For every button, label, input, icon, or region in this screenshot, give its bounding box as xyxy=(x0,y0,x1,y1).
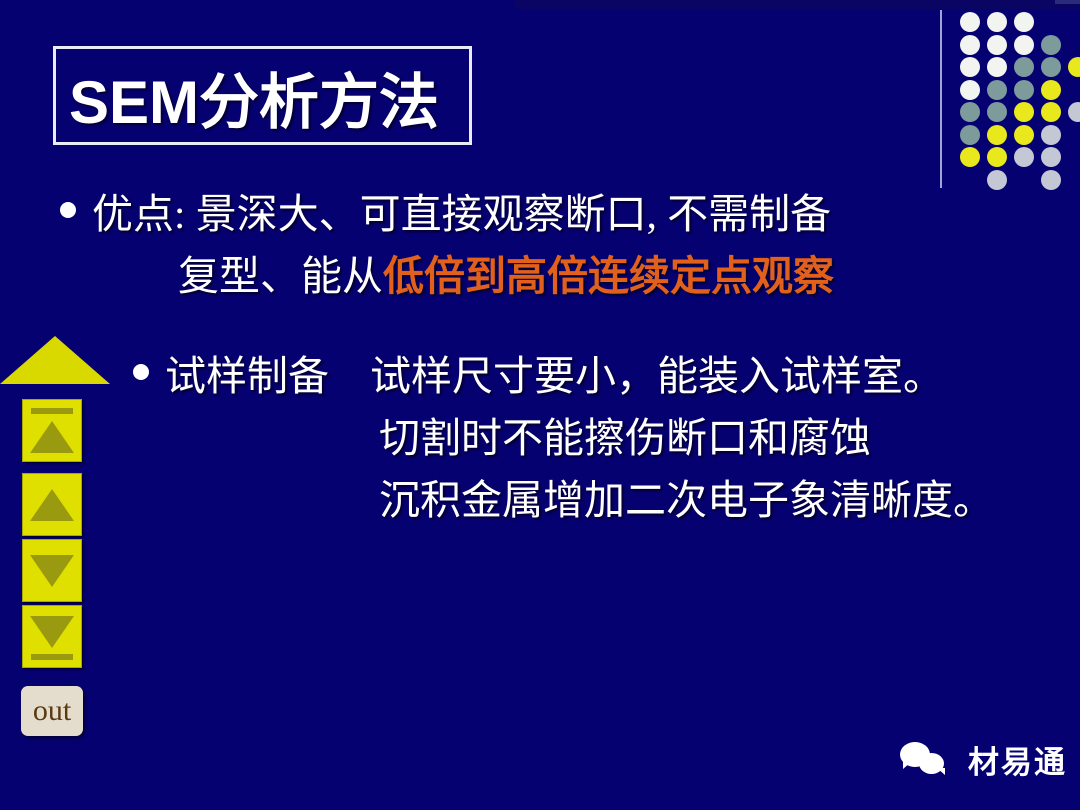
body-text: 切割时不能擦伤断口和腐蚀 xyxy=(379,407,871,469)
grid-dot-white xyxy=(960,35,980,55)
grid-dot-yellow xyxy=(1041,102,1061,122)
grid-dot-yellow xyxy=(987,125,1007,145)
grid-dot-yellow xyxy=(1014,102,1034,122)
bullet-line: 复型、能从低倍到高倍连续定点观察 xyxy=(60,245,834,307)
presentation-slide: SEM分析方法 优点: 景深大、可直接观察断口, 不需制备复型、能从低倍到高倍连… xyxy=(0,0,1080,810)
bar-icon xyxy=(31,408,73,414)
grid-dot-gray xyxy=(987,170,1007,190)
watermark-label: 材易通 xyxy=(968,737,1067,782)
bullet-line: 试样制备 试样尺寸要小，能装入试样室。 xyxy=(133,345,994,407)
vertical-rule-decoration xyxy=(940,10,942,188)
grid-dot-teal xyxy=(960,125,980,145)
grid-dot-white xyxy=(987,35,1007,55)
triangle-down-icon xyxy=(30,555,74,587)
grid-dot-yellow xyxy=(1014,125,1034,145)
bar-icon xyxy=(31,654,73,660)
grid-dot-gray xyxy=(1041,147,1061,167)
top-band-decoration xyxy=(515,0,1080,9)
grid-dot-teal xyxy=(1041,35,1061,55)
grid-dot-gray xyxy=(1014,147,1034,167)
bullet-group-advantages: 优点: 景深大、可直接观察断口, 不需制备复型、能从低倍到高倍连续定点观察 xyxy=(60,183,834,307)
bullet-line: 切割时不能擦伤断口和腐蚀 xyxy=(133,407,994,469)
bullet-line: 沉积金属增加二次电子象清晰度。 xyxy=(133,469,994,531)
grid-dot-gray xyxy=(1041,125,1061,145)
body-text: 沉积金属增加二次电子象清晰度。 xyxy=(379,469,994,531)
body-text: 复型、能从 xyxy=(178,245,383,307)
triangle-up-icon xyxy=(30,421,74,453)
grid-dot-white xyxy=(987,57,1007,77)
grid-dot-white xyxy=(960,12,980,32)
bullet-marker-icon xyxy=(133,364,149,380)
bullet-line: 优点: 景深大、可直接观察断口, 不需制备 xyxy=(60,183,834,245)
body-text: 优点: 景深大、可直接观察断口, 不需制备 xyxy=(92,183,831,245)
grid-dot-teal xyxy=(1041,57,1061,77)
triangle-down-icon xyxy=(30,616,74,648)
grid-dot-teal xyxy=(987,80,1007,100)
previous-slide-button[interactable] xyxy=(22,473,82,536)
grid-dot-white xyxy=(1014,12,1034,32)
grid-dot-teal xyxy=(960,102,980,122)
first-slide-button[interactable] xyxy=(22,399,82,462)
watermark: 材易通 xyxy=(900,737,1067,782)
grid-dot-yellow xyxy=(1068,57,1080,77)
highlighted-text: 低倍到高倍连续定点观察 xyxy=(383,245,834,307)
body-text: 试样制备 试样尺寸要小，能装入试样室。 xyxy=(165,345,944,407)
grid-dot-white xyxy=(1014,35,1034,55)
grid-dot-gray xyxy=(1041,170,1061,190)
bullet-marker-icon xyxy=(60,202,76,218)
next-slide-button[interactable] xyxy=(22,539,82,602)
grid-dot-teal xyxy=(1014,80,1034,100)
grid-dot-teal xyxy=(987,102,1007,122)
grid-dot-gray xyxy=(1068,102,1080,122)
grid-dot-white xyxy=(960,80,980,100)
grid-dot-white xyxy=(987,12,1007,32)
last-slide-button[interactable] xyxy=(22,605,82,668)
grid-dot-teal xyxy=(1014,57,1034,77)
wechat-icon xyxy=(900,740,956,780)
top-band-edge-decoration xyxy=(1055,0,1080,4)
grid-dot-yellow xyxy=(987,147,1007,167)
home-triangle-button[interactable] xyxy=(0,336,110,384)
grid-dot-yellow xyxy=(960,147,980,167)
exit-button[interactable]: out xyxy=(21,686,83,736)
triangle-up-icon xyxy=(30,489,74,521)
page-title: SEM分析方法 xyxy=(69,52,469,142)
grid-dot-yellow xyxy=(1041,80,1061,100)
bullet-group-sample-prep: 试样制备 试样尺寸要小，能装入试样室。切割时不能擦伤断口和腐蚀沉积金属增加二次电… xyxy=(133,345,994,531)
grid-dot-white xyxy=(960,57,980,77)
dot-grid-decoration xyxy=(960,12,1080,192)
